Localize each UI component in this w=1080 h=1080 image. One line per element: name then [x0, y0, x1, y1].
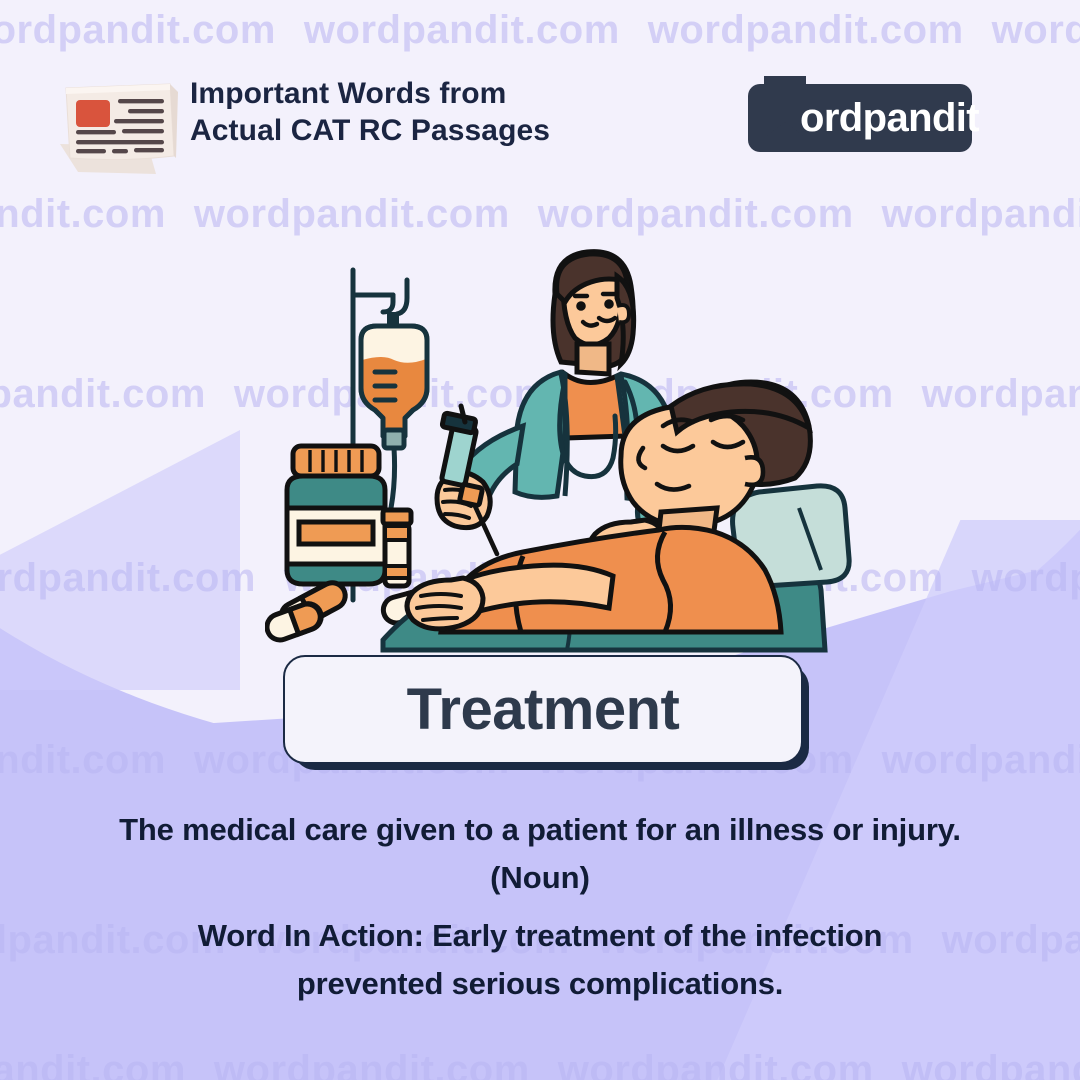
definition-block: The medical care given to a patient for …	[0, 806, 1080, 1008]
word-in-action-line2: prevented serious complications.	[0, 960, 1080, 1008]
doctor-treating-patient-illustration: .ol{stroke:#16333d;stroke-width:5;stroke…	[265, 240, 885, 660]
vial-icon	[383, 510, 411, 586]
newspaper-icon	[52, 70, 182, 182]
poster-canvas: wordpandit.comwordpandit.comwordpandit.c…	[0, 0, 1080, 1080]
word-card: Treatment	[283, 655, 799, 760]
medicine-bottle-icon	[287, 446, 385, 584]
part-of-speech: (Noun)	[0, 854, 1080, 902]
definition-text: The medical care given to a patient for …	[0, 806, 1080, 854]
wordpandit-logo[interactable]: ordpandit	[748, 84, 972, 152]
header: Important Words from Actual CAT RC Passa…	[0, 62, 1080, 172]
page-title: Important Words from Actual CAT RC Passa…	[190, 76, 550, 149]
page-title-line1: Important Words from	[190, 76, 550, 113]
word-title: Treatment	[407, 676, 680, 743]
page-title-line2: Actual CAT RC Passages	[190, 113, 550, 150]
word-in-action-line1: Word In Action: Early treatment of the i…	[0, 912, 1080, 960]
word-card-body: Treatment	[283, 655, 803, 764]
logo-text: ordpandit	[800, 96, 979, 141]
